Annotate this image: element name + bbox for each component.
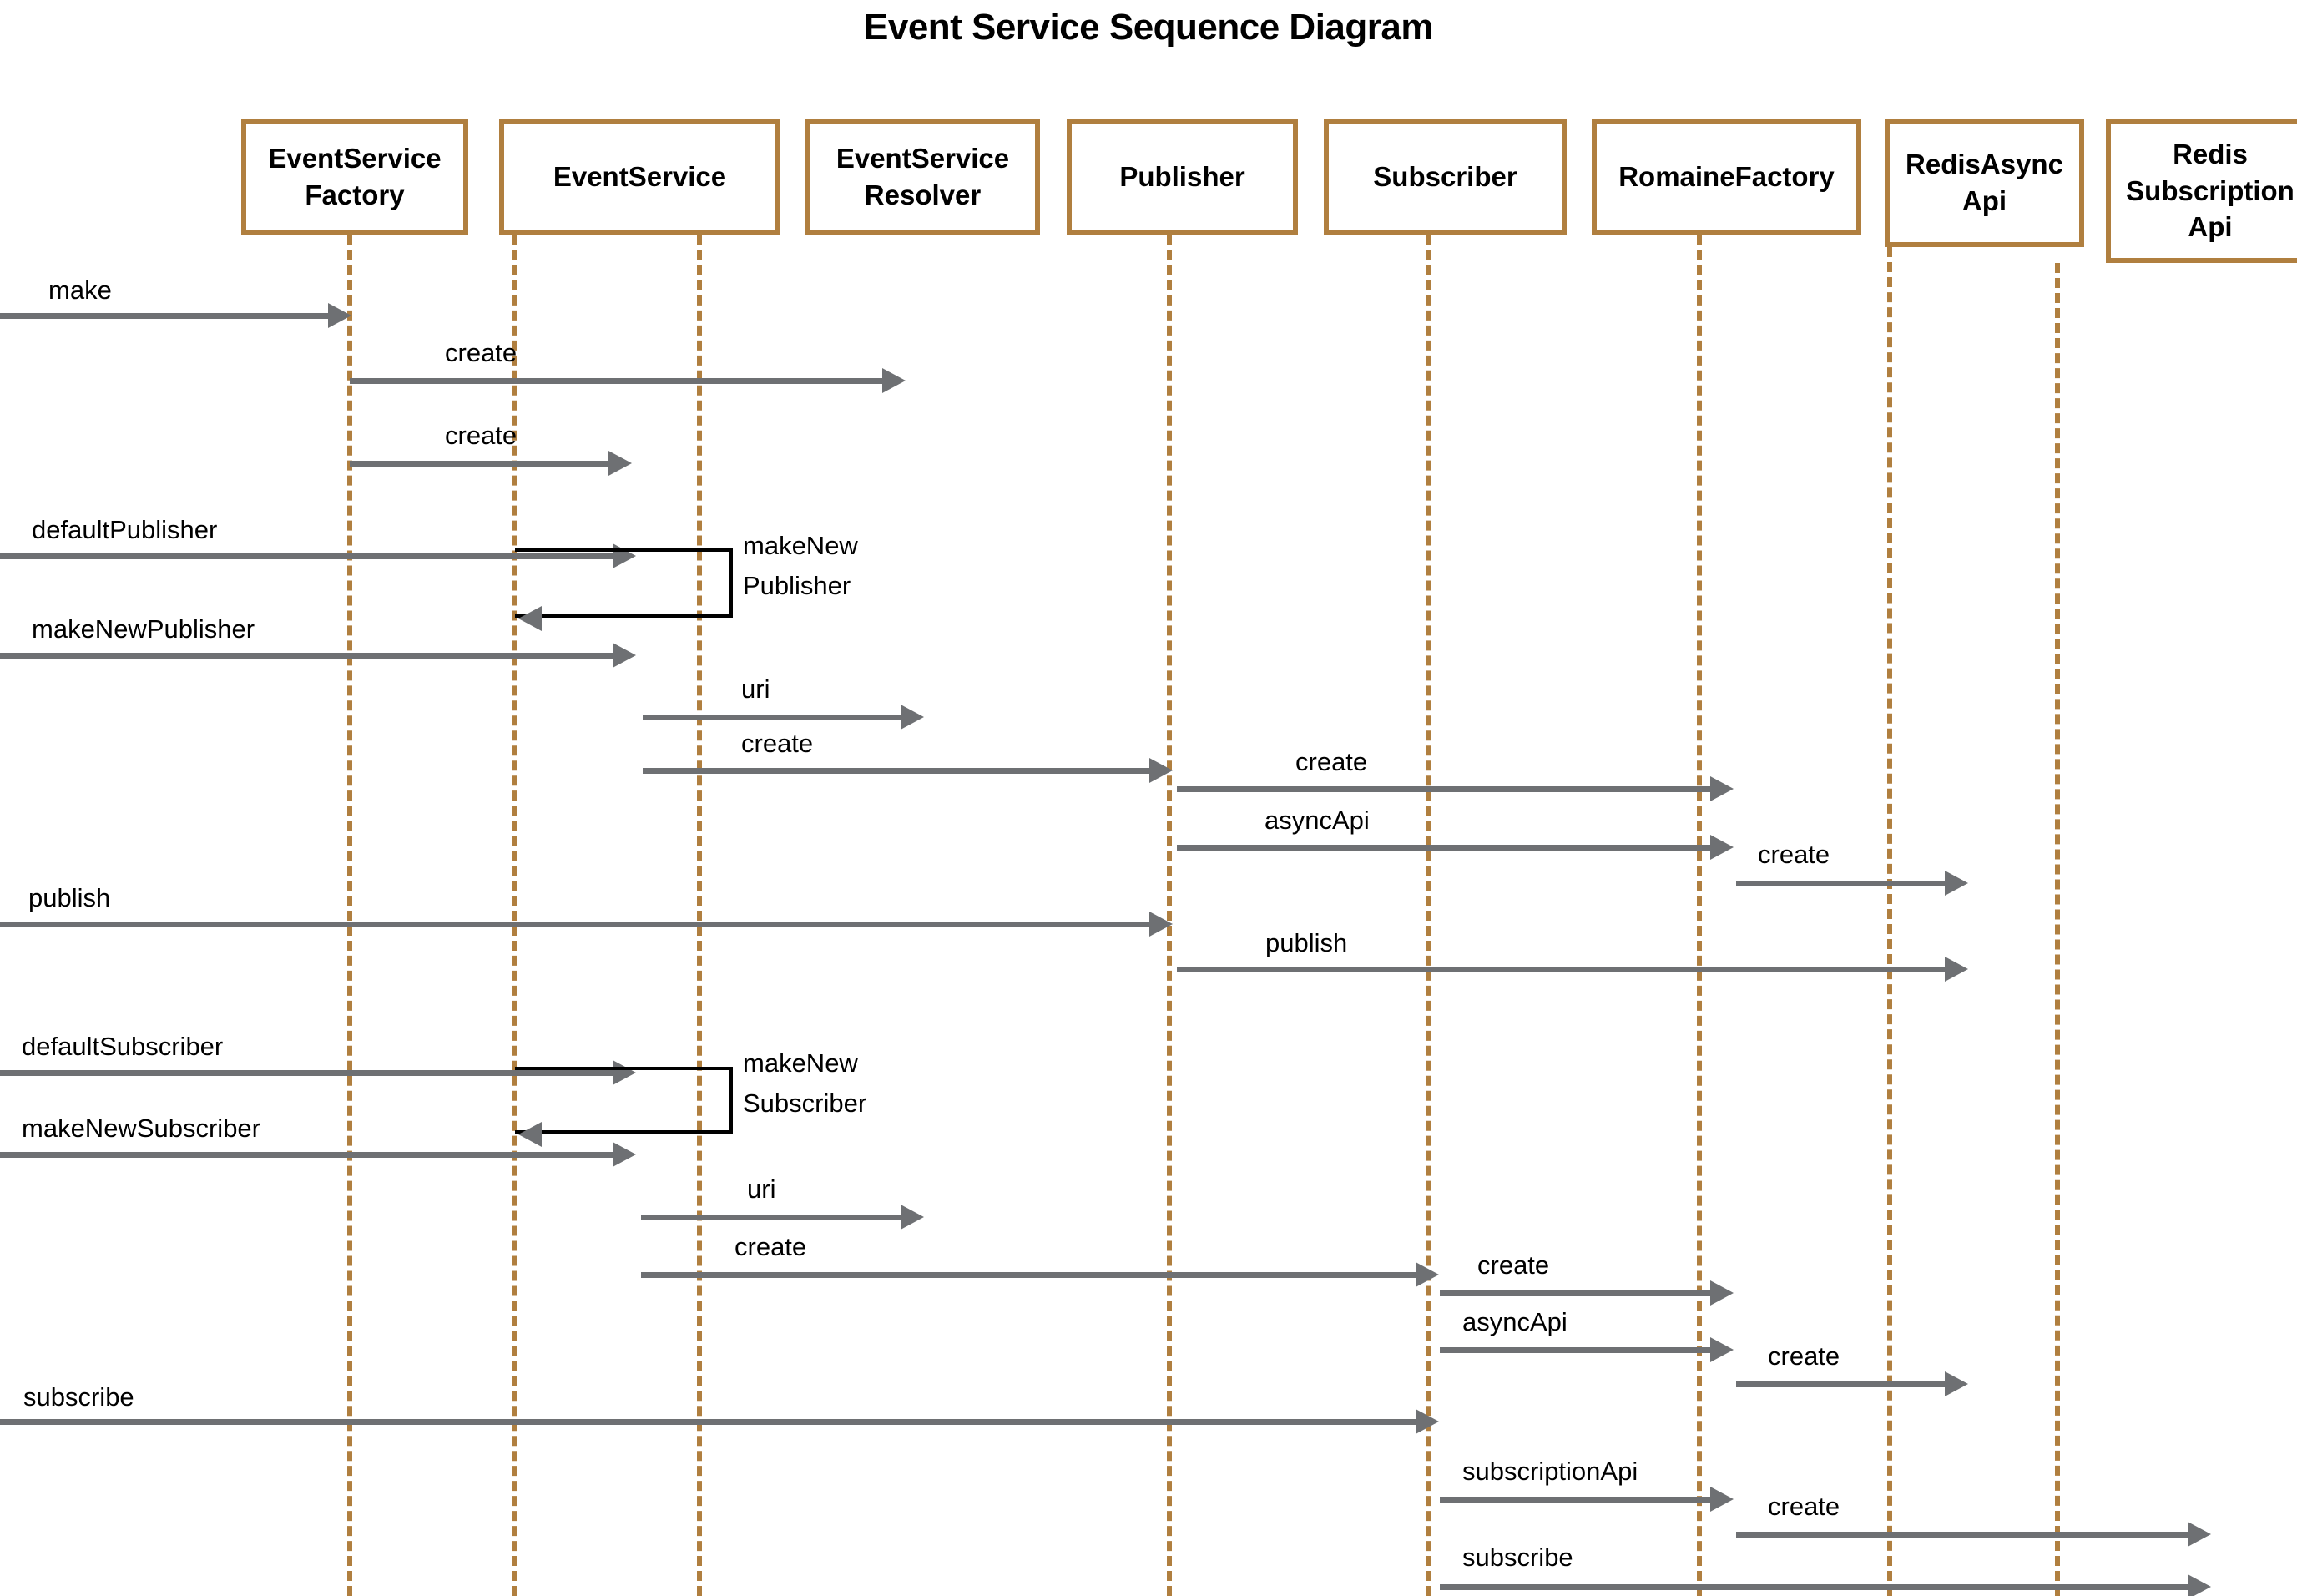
arrowhead-m14 [613, 1142, 636, 1167]
message-line-m21 [1440, 1497, 1715, 1503]
message-label-m09: asyncApi [1265, 806, 1370, 836]
message-line-m03 [350, 461, 613, 467]
self-message-loop-s01 [515, 548, 733, 618]
message-line-m09 [1177, 845, 1715, 851]
lifeline-subscriber [1426, 235, 1431, 1596]
arrowhead-m09 [1710, 835, 1734, 860]
message-line-m15 [641, 1215, 906, 1220]
message-label-m23: subscribe [1462, 1543, 1573, 1573]
message-line-m23 [1440, 1584, 2193, 1590]
lifeline-event-service-resolver [697, 235, 702, 1596]
arrowhead-m12 [1945, 957, 1968, 982]
message-label-m03: create [445, 421, 517, 452]
message-line-m14 [0, 1152, 618, 1158]
lifeline-romaine-factory [1697, 235, 1702, 1596]
arrowhead-m15 [901, 1205, 924, 1230]
participant-label-redis-subscription-api: Redis Subscription Api [2126, 136, 2294, 245]
participant-label-event-service-resolver: EventService Resolver [836, 140, 1009, 213]
participant-label-event-service-factory: EventService Factory [268, 140, 441, 213]
arrowhead-m06 [901, 705, 924, 730]
message-line-m06 [643, 715, 906, 720]
arrowhead-m16 [1416, 1262, 1439, 1287]
page-title: Event Service Sequence Diagram [0, 7, 2297, 48]
message-label-m18: asyncApi [1462, 1307, 1568, 1338]
message-label-m12: publish [1265, 928, 1347, 959]
participant-box-romaine-factory[interactable]: RomaineFactory [1592, 119, 1861, 235]
message-label-m10: create [1758, 840, 1830, 871]
self-message-label-s01: makeNew Publisher [743, 526, 858, 606]
arrowhead-m05 [613, 643, 636, 668]
arrowhead-m19 [1945, 1371, 1968, 1396]
participant-box-subscriber[interactable]: Subscriber [1324, 119, 1567, 235]
participant-label-event-service: EventService [553, 159, 726, 195]
message-line-m01 [0, 313, 333, 319]
lifeline-redis-subscription-api [2055, 263, 2060, 1596]
message-label-m01: make [48, 275, 112, 306]
lifeline-redis-async-api [1887, 247, 1892, 1596]
message-line-m12 [1177, 967, 1950, 972]
participant-label-subscriber: Subscriber [1373, 159, 1517, 195]
message-label-m13: defaultSubscriber [22, 1032, 223, 1063]
participant-label-romaine-factory: RomaineFactory [1618, 159, 1835, 195]
message-line-m17 [1440, 1290, 1715, 1296]
self-message-label-s02: makeNew Subscriber [743, 1043, 866, 1124]
participant-label-publisher: Publisher [1119, 159, 1244, 195]
message-label-m11: publish [28, 883, 110, 914]
arrowhead-m21 [1710, 1487, 1734, 1512]
message-line-m18 [1440, 1347, 1715, 1353]
arrowhead-m03 [608, 451, 632, 476]
message-label-m19: create [1768, 1341, 1840, 1372]
arrowhead-m02 [882, 368, 906, 393]
message-line-m22 [1736, 1532, 2193, 1538]
message-label-m05: makeNewPublisher [32, 614, 255, 645]
message-line-m05 [0, 653, 618, 659]
participant-box-publisher[interactable]: Publisher [1067, 119, 1298, 235]
message-label-m14: makeNewSubscriber [22, 1114, 260, 1144]
message-label-m06: uri [741, 674, 770, 705]
participant-box-event-service[interactable]: EventService [499, 119, 780, 235]
message-label-m08: create [1295, 747, 1367, 778]
arrowhead-m17 [1710, 1280, 1734, 1306]
message-label-m16: create [735, 1232, 806, 1263]
message-line-m16 [641, 1272, 1421, 1278]
arrowhead-m10 [1945, 871, 1968, 896]
self-message-arrowhead-s02 [518, 1122, 542, 1147]
arrowhead-m08 [1710, 776, 1734, 801]
message-label-m17: create [1477, 1250, 1549, 1281]
message-label-m20: subscribe [23, 1382, 134, 1413]
arrowhead-m18 [1710, 1337, 1734, 1362]
message-line-m10 [1736, 881, 1950, 886]
self-message-loop-s02 [515, 1067, 733, 1134]
participant-box-redis-subscription-api[interactable]: Redis Subscription Api [2106, 119, 2297, 263]
message-line-m20 [0, 1419, 1421, 1425]
message-label-m21: subscriptionApi [1462, 1457, 1638, 1487]
participant-box-event-service-factory[interactable]: EventService Factory [241, 119, 468, 235]
arrowhead-m22 [2188, 1522, 2211, 1547]
message-label-m07: create [741, 729, 813, 760]
self-message-arrowhead-s01 [518, 606, 542, 631]
message-line-m07 [643, 768, 1154, 774]
message-line-m02 [350, 378, 887, 384]
arrowhead-m20 [1416, 1409, 1439, 1434]
message-line-m19 [1736, 1381, 1950, 1387]
message-label-m22: create [1768, 1492, 1840, 1523]
sequence-diagram-canvas: Event Service Sequence Diagram EventServ… [0, 0, 2297, 1596]
lifeline-event-service-factory [347, 235, 352, 1596]
message-line-m11 [0, 922, 1154, 927]
arrowhead-m07 [1149, 758, 1173, 783]
message-label-m02: create [445, 338, 517, 369]
message-label-m15: uri [747, 1174, 775, 1205]
arrowhead-m01 [328, 303, 351, 328]
participant-label-redis-async-api: RedisAsync Api [1906, 146, 2063, 219]
participant-box-redis-async-api[interactable]: RedisAsync Api [1885, 119, 2084, 247]
arrowhead-m11 [1149, 912, 1173, 937]
participant-box-event-service-resolver[interactable]: EventService Resolver [805, 119, 1040, 235]
message-label-m04: defaultPublisher [32, 515, 217, 546]
arrowhead-m23 [2188, 1574, 2211, 1596]
message-line-m08 [1177, 786, 1715, 792]
